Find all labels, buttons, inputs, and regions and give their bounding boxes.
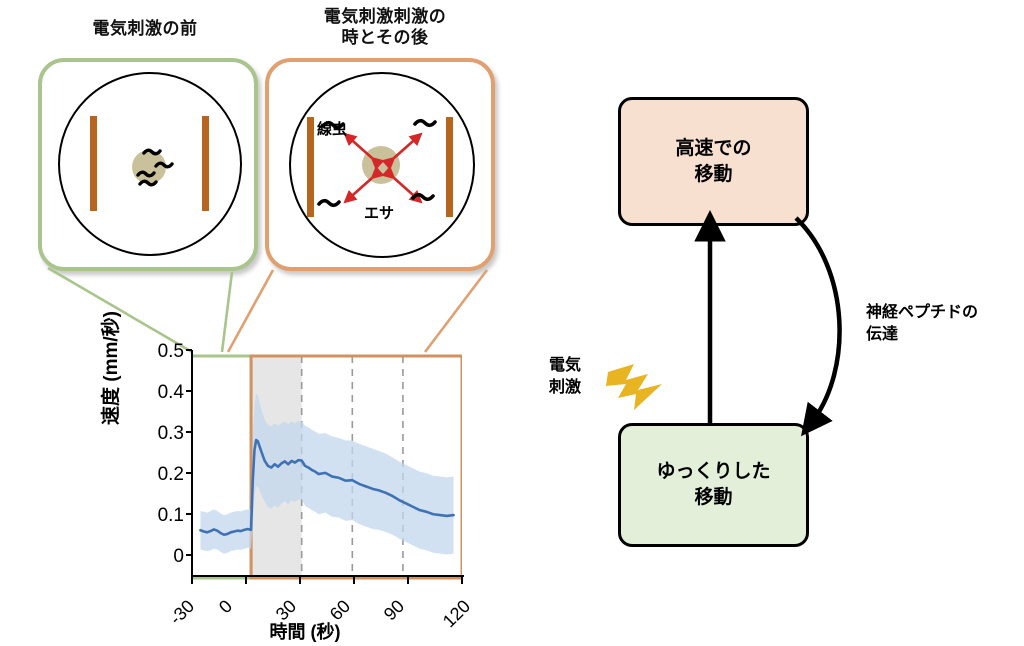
fast-movement-line1: 高速での (675, 136, 751, 162)
y-tick-label: 0 (138, 546, 184, 568)
chart-axes (180, 344, 470, 594)
neuropeptide-curved-arrow (796, 218, 840, 422)
right-panel-title: 電気刺激刺激の 時とその後 (280, 6, 490, 49)
slow-movement-line1: ゆっくりした (656, 459, 770, 485)
x-tick-label: 0 (215, 596, 237, 618)
chart-x-axis-label: 時間 (秒) (175, 618, 435, 644)
x-tick-label: 120 (439, 596, 475, 632)
slow-movement-line2: 移動 (656, 485, 770, 511)
fast-movement-line2: 移動 (675, 162, 751, 188)
worm-label: 線虫 (317, 118, 347, 139)
neuropeptide-label-line1: 神経ペプチドの (866, 302, 978, 324)
electrode-right-before (202, 116, 209, 211)
y-tick-label: 0.5 (138, 341, 184, 363)
neuropeptide-label-line2: 伝達 (866, 324, 978, 346)
right-panel-title-line2: 時とその後 (280, 27, 490, 48)
y-tick-label: 0.2 (138, 464, 184, 486)
stimulus-label: 電気 刺激 (549, 355, 581, 398)
y-tick-label: 0.4 (138, 382, 184, 404)
left-panel-title-text: 電気刺激の前 (93, 19, 198, 38)
food-label: エサ (364, 202, 394, 223)
y-tick-label: 0.3 (138, 423, 184, 445)
neuropeptide-label: 神経ペプチドの 伝達 (866, 302, 978, 345)
dish-panel-before (38, 58, 258, 271)
lightning-bolt-icon (604, 358, 676, 416)
dish-panel-after: 線虫 エサ (265, 58, 495, 271)
chart-y-axis-label: 速度 (mm/秒) (96, 288, 123, 448)
y-tick-label: 0.1 (138, 505, 184, 527)
speed-timecourse-chart: 速度 (mm/秒) 0.5 0.4 0.3 0.2 0.1 0 (100, 330, 480, 630)
worms-before (118, 136, 182, 200)
stimulus-label-line1: 電気 (549, 355, 581, 377)
stimulus-label-line2: 刺激 (549, 377, 581, 399)
right-panel-title-line1: 電気刺激刺激の (280, 6, 490, 27)
electrode-left-before (90, 116, 97, 211)
left-panel-title: 電気刺激の前 (50, 18, 240, 39)
